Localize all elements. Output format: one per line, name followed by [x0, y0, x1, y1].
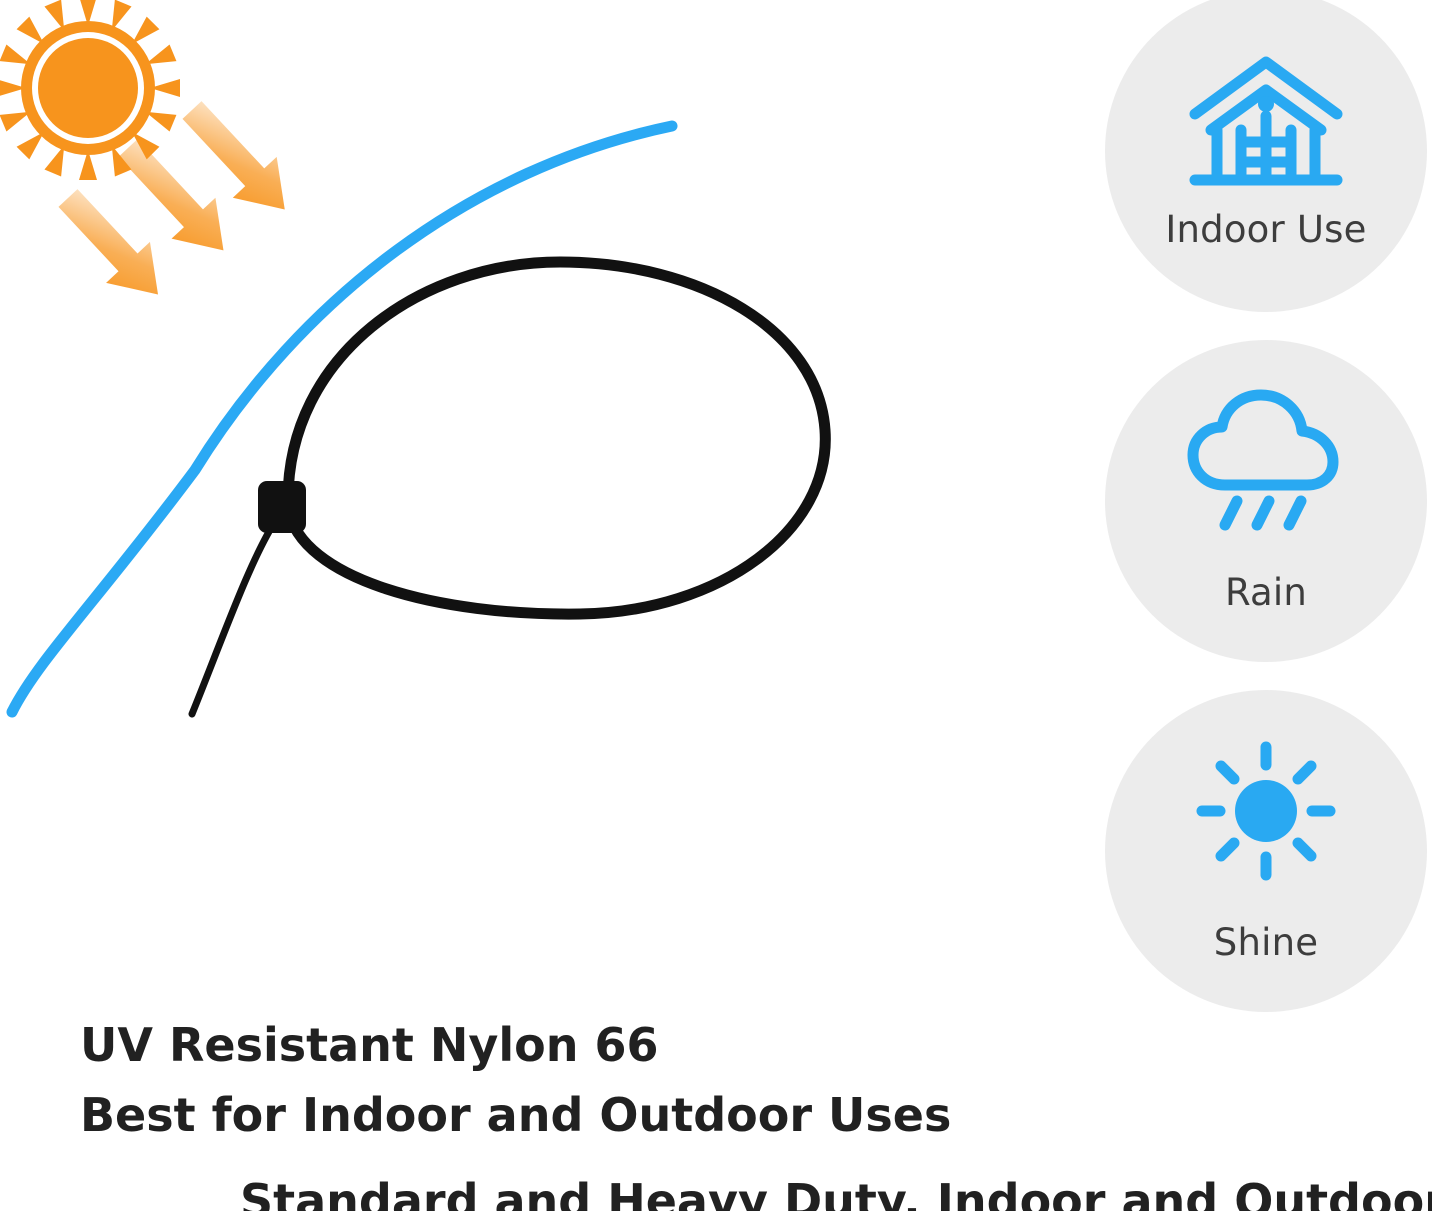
badge-indoor-use: Indoor Use: [1105, 0, 1427, 312]
caption-line-1: UV Resistant Nylon 66: [80, 1010, 1180, 1080]
caption-line-2: Best for Indoor and Outdoor Uses: [80, 1080, 1180, 1150]
badge-label-shine: Shine: [1214, 921, 1318, 964]
caption-line-3: Standard and Heavy Duty, Indoor and Outd…: [240, 1180, 1432, 1211]
rain-cloud-icon: [1181, 389, 1351, 539]
badge-label-indoor-use: Indoor Use: [1165, 208, 1366, 251]
caption-line-3-clipped: Standard and Heavy Duty, Indoor and Outd…: [0, 1180, 1432, 1211]
uv-resistance-illustration: [0, 0, 1050, 960]
uv-shield-arc: [12, 126, 672, 712]
badge-shine: Shine: [1105, 690, 1427, 1012]
badge-label-rain: Rain: [1225, 571, 1307, 614]
feature-badge-list: Indoor Use Rain: [1105, 0, 1432, 1010]
caption-block: UV Resistant Nylon 66 Best for Indoor an…: [80, 1010, 1180, 1150]
house-icon: [1181, 52, 1351, 202]
cable-tie-head: [258, 481, 306, 533]
sun-icon: [0, 0, 180, 180]
badge-rain: Rain: [1105, 340, 1427, 662]
sun-shine-icon: [1181, 739, 1351, 889]
